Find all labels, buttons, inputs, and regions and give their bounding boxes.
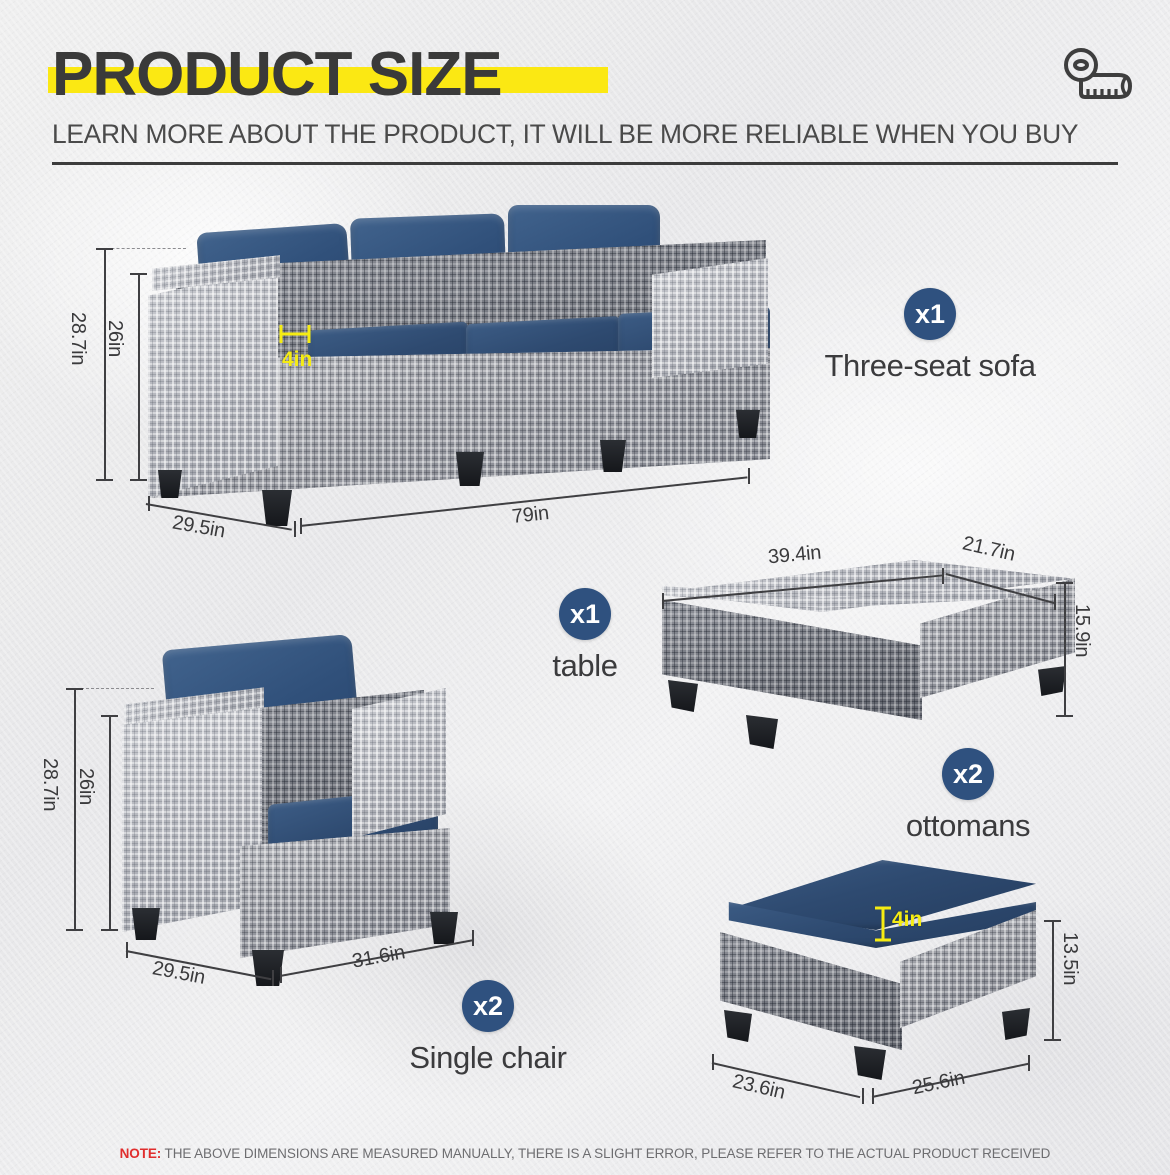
ottoman-quantity-badge: x2 (942, 748, 994, 800)
sofa-seat-height-label: 26in (103, 320, 126, 357)
sofa-seat-height-cap-bottom (130, 479, 147, 481)
table-width-line (946, 573, 1055, 604)
tape-measure-icon (1062, 46, 1136, 104)
footer-note: NOTE: THE ABOVE DIMENSIONS ARE MEASURED … (0, 1146, 1170, 1161)
sofa-width-cap-left (300, 518, 302, 534)
ottoman-depth-label: 23.6in (730, 1070, 787, 1104)
ottoman-height-cap-bottom (1044, 1039, 1061, 1041)
chair-seat-height-label: 26in (74, 768, 97, 805)
sofa-name-label: Three-seat sofa (800, 348, 1060, 384)
ottoman-width-label: 25.6in (910, 1067, 967, 1101)
ottoman-height-line (1052, 920, 1054, 1040)
ottoman-name-label: ottomans (848, 808, 1088, 844)
table-height-label: 15.9in (1070, 604, 1093, 657)
sofa-depth-cap-left (148, 496, 150, 511)
page-title-wrap: PRODUCT SIZE (52, 42, 502, 107)
table-height-cap-top (1056, 582, 1073, 584)
ottoman-cushion-thickness-marker (872, 904, 894, 944)
sofa-overall-height-cap-top (96, 248, 113, 250)
table-height-cap-bottom (1056, 715, 1073, 717)
ottoman-badge-group: x2 ottomans (848, 748, 1088, 844)
ottoman-width-cap-left (872, 1088, 874, 1104)
chair-badge-group: x2 Single chair (378, 980, 598, 1076)
chair-seat-height-line (109, 715, 111, 930)
ottoman-width-cap-right (1028, 1055, 1030, 1071)
ottoman-dimensions: 4in 13.5in 23.6in 25.6in (690, 850, 1110, 1110)
sofa-cushion-thickness-marker (278, 322, 312, 346)
ottoman-height-cap-top (1044, 920, 1061, 922)
chair-overall-height-cap-top (66, 688, 83, 690)
table-height-line (1064, 582, 1066, 716)
sofa-overall-height-cap-bottom (96, 479, 113, 481)
sofa-seat-height-cap-top (130, 273, 147, 275)
sofa-seat-height-line (138, 273, 140, 480)
sofa-width-label: 79in (511, 502, 550, 529)
chair-width-label: 31.6in (350, 941, 407, 973)
sofa-depth-cap-right (294, 521, 296, 537)
sofa-overall-height-label: 28.7in (66, 312, 89, 365)
sofa-badge-group: x1 Three-seat sofa (800, 288, 1060, 384)
chair-overall-height-line (74, 688, 76, 930)
table-width-cap-right (1054, 594, 1056, 610)
chair-quantity-badge: x2 (462, 980, 514, 1032)
chair-name-label: Single chair (378, 1040, 598, 1076)
ottoman-depth-cap-left (712, 1054, 714, 1070)
chair-depth-label: 29.5in (150, 957, 207, 990)
chair-depth-cap-left (126, 942, 128, 958)
sofa-quantity-badge: x1 (904, 288, 956, 340)
footer-note-text: THE ABOVE DIMENSIONS ARE MEASURED MANUAL… (161, 1146, 1050, 1161)
sofa-width-cap-right (748, 468, 750, 484)
chair-seat-height-cap-bottom (101, 929, 118, 931)
table-length-line (662, 574, 943, 601)
chair-seat-height-cap-top (101, 715, 118, 717)
chair-overall-height-cap-bottom (66, 929, 83, 931)
table-quantity-badge: x1 (559, 588, 611, 640)
table-width-label: 21.7in (960, 532, 1017, 566)
chair-dimensions: 28.7in 26in 29.5in 31.6in (0, 620, 560, 1020)
table-length-cap-right (942, 568, 944, 584)
ottoman-height-label: 13.5in (1058, 932, 1081, 985)
sofa-cushion-thickness-label: 4in (282, 348, 312, 372)
table-dimensions: 39.4in 21.7in 15.9in (640, 520, 1110, 750)
chair-width-cap-right (472, 930, 474, 946)
chair-depth-cap-right (272, 970, 274, 986)
ottoman-depth-cap-right (862, 1088, 864, 1104)
page-title: PRODUCT SIZE (52, 42, 502, 107)
chair-width-cap-left (280, 967, 282, 983)
ottoman-cushion-thickness-label: 4in (892, 908, 922, 932)
table-length-label: 39.4in (767, 542, 822, 570)
chair-overall-height-label: 28.7in (38, 758, 61, 811)
sofa-overall-height-line (104, 248, 106, 480)
footer-note-keyword: NOTE: (120, 1146, 162, 1161)
